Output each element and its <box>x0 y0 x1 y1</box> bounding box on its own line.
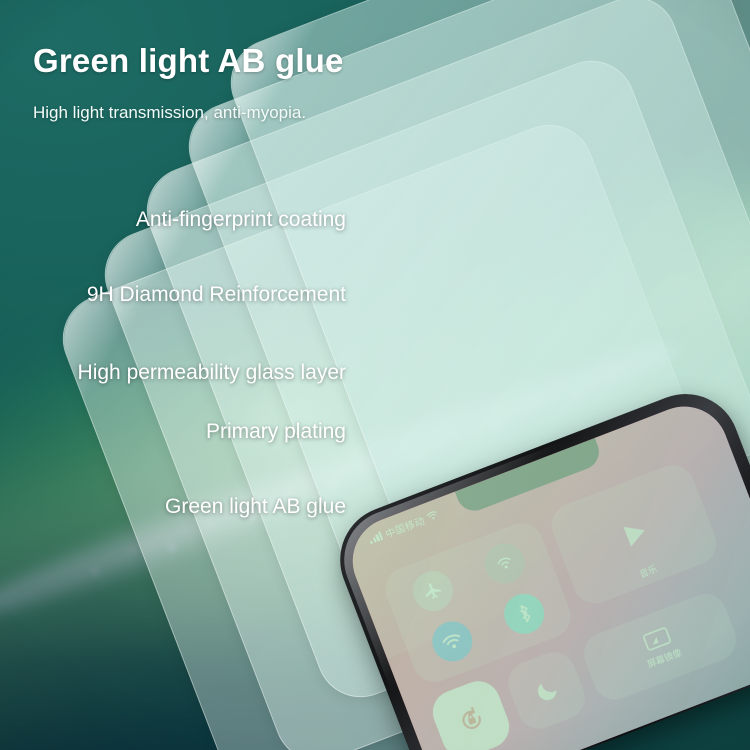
feature-label-anti-fingerprint: Anti-fingerprint coating <box>0 208 346 232</box>
product-marketing-image: 中国移动 <box>0 0 750 750</box>
feature-label-high-permeability: High permeability glass layer <box>0 361 346 385</box>
feature-label-primary-plating: Primary plating <box>0 420 346 444</box>
feature-label-green-light-glue: Green light AB glue <box>0 495 346 519</box>
page-title: Green light AB glue <box>33 42 344 80</box>
feature-label-9h-diamond: 9H Diamond Reinforcement <box>0 283 346 307</box>
page-subtitle: High light transmission, anti-myopia. <box>33 103 306 123</box>
